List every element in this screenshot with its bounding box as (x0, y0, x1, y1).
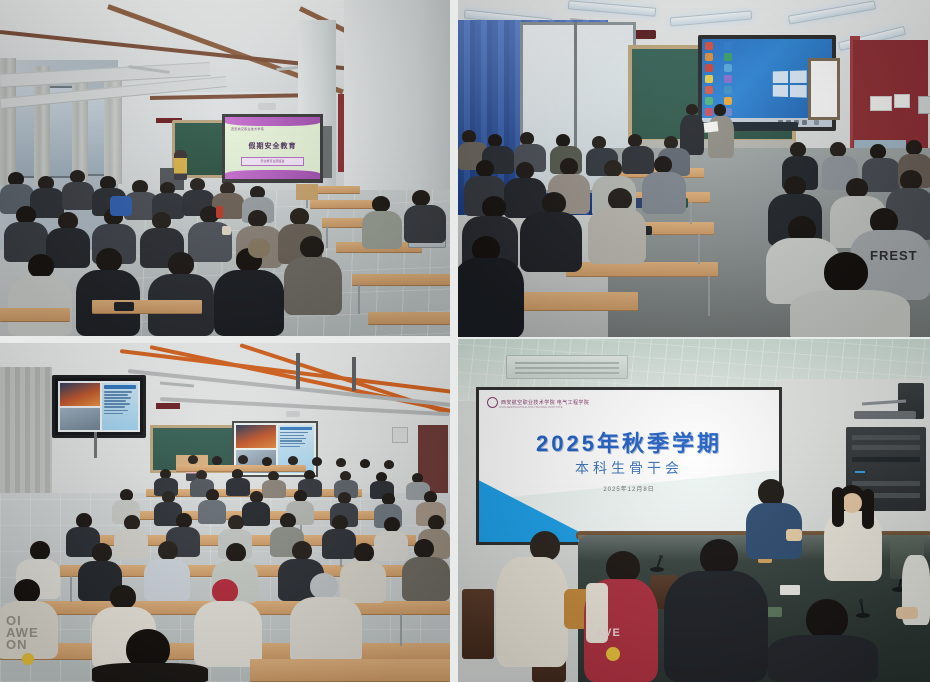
undergraduate-leaders-meeting-scene: 西安航空职业技术学院 电气工程学院 XI'AN AERONAUTICAL POL… (458, 339, 930, 682)
student-head (360, 459, 370, 468)
student-head-foreground (824, 252, 868, 292)
desktop-icon[interactable] (705, 108, 713, 116)
wall-poster-frame (808, 58, 840, 120)
projection-screen: 西安航空职业技术学院 假期安全教育 安全教育主题班会 (222, 114, 323, 183)
desk-leg (400, 614, 402, 646)
ac-vent-line (515, 367, 619, 369)
student-fur-hood (310, 573, 338, 599)
slide-line (280, 435, 304, 436)
collage-panel-top-right: FREST (458, 0, 930, 337)
student-head (542, 192, 566, 214)
presentation-screen: 西安航空职业技术学院 电气工程学院 XI'AN AERONAUTICAL POL… (476, 387, 782, 545)
slide-panel-header (104, 385, 136, 389)
mic-tip (659, 555, 663, 559)
phone (114, 302, 134, 311)
student-head (476, 160, 494, 177)
student-head (76, 513, 92, 528)
student-head (212, 456, 222, 465)
wall-control-panel[interactable] (392, 427, 408, 443)
desk (352, 274, 450, 285)
air-conditioner (506, 355, 628, 379)
slide-line (280, 446, 300, 447)
slide-band-top (225, 117, 320, 126)
student-body (402, 557, 450, 601)
student-body (198, 500, 226, 524)
student-head (92, 543, 112, 562)
slide-line (104, 394, 128, 396)
slide-date: 2025年12月8日 (479, 484, 779, 493)
jacket-print: FREST (870, 248, 926, 262)
student-head (312, 457, 322, 466)
desk (92, 300, 202, 313)
desk-leg (708, 276, 710, 316)
student-body (262, 480, 286, 498)
rack-unit (852, 435, 920, 440)
student-head (428, 515, 444, 530)
participant-body (664, 571, 768, 682)
student-head (412, 190, 430, 206)
student-body (226, 478, 250, 496)
logo-quadrant (773, 71, 788, 83)
desk (368, 312, 450, 324)
desktop-icon[interactable] (724, 42, 732, 50)
student-head (608, 188, 632, 210)
student-head (228, 515, 244, 530)
student-head (384, 460, 394, 469)
notice-paper (894, 94, 910, 108)
student-body (194, 601, 262, 667)
notice-paper (870, 96, 892, 111)
student-head (290, 208, 309, 225)
slide-text-panel (102, 383, 138, 430)
desktop-icon[interactable] (705, 53, 713, 61)
student-head (482, 196, 506, 218)
system-tray-icon[interactable] (814, 120, 819, 125)
student-head (336, 458, 346, 467)
student-head (124, 515, 140, 530)
chair (462, 589, 494, 659)
slide-line (280, 432, 308, 433)
slide-line (104, 400, 126, 402)
participant-body (496, 557, 568, 667)
desktop-icon[interactable] (705, 64, 713, 72)
rack-top-fixture (854, 411, 916, 419)
vest-badge (606, 647, 620, 661)
rack-led (855, 471, 865, 473)
student-head (900, 170, 922, 190)
slide-images (60, 383, 100, 430)
slide-subtitle: 安全教育主题班会 (242, 158, 303, 165)
student-head (516, 162, 534, 179)
desktop-icon[interactable] (724, 86, 732, 94)
student-body (362, 211, 402, 249)
student-body (458, 258, 524, 337)
slide-line (104, 413, 123, 415)
slide-title: 假期安全教育 (225, 141, 320, 151)
slide-photo-fire (236, 425, 276, 448)
projector (286, 411, 300, 417)
jacket-print: OIAWEON (6, 615, 50, 649)
desk (310, 200, 376, 208)
student-head (790, 142, 806, 157)
presenter-head (714, 104, 726, 116)
rack-unit (852, 481, 920, 486)
student-hood (248, 238, 270, 258)
ac-vent-line (515, 362, 619, 364)
student-red-beanie (212, 579, 238, 603)
slide-line (104, 397, 131, 399)
student-body (340, 561, 386, 603)
holiday-safety-lecture-scene: 西安航空职业技术学院 假期安全教育 安全教育主题班会 (0, 0, 450, 336)
student-head (226, 543, 246, 562)
student-body (8, 276, 72, 336)
student-body (520, 212, 582, 272)
desk-leg (70, 576, 72, 602)
collage-panel-top-left: 西安航空职业技术学院 假期安全教育 安全教育主题班会 (0, 0, 450, 336)
student-head (14, 579, 40, 603)
desk (0, 308, 70, 321)
slide-line (280, 438, 306, 439)
rack-unit (852, 457, 920, 462)
jacket-badge (22, 653, 34, 665)
student-head (784, 176, 806, 196)
ac-vent-line (515, 372, 619, 374)
participant-head (700, 539, 738, 575)
logo-quadrant (790, 85, 807, 98)
student-body (622, 146, 654, 174)
participant-hand (786, 529, 802, 541)
slide-subtitle: 本科生骨干会 (479, 458, 779, 478)
windows-desktop-classroom-scene: FREST (458, 0, 930, 337)
student-head (168, 252, 194, 276)
student-head (560, 158, 578, 175)
student-body (144, 559, 190, 601)
slide-line (104, 391, 132, 393)
student-body (322, 529, 356, 559)
student-head (846, 178, 868, 198)
paper-sheet (780, 585, 800, 595)
student-head (152, 212, 171, 229)
desktop-icon[interactable] (724, 64, 732, 72)
participant-hair (862, 489, 874, 529)
mic-tip (859, 599, 863, 603)
water-bottle (216, 206, 223, 218)
desk-leg (358, 284, 360, 314)
student-body (588, 208, 646, 264)
logo-quadrant (790, 70, 807, 83)
participant-face (842, 493, 862, 513)
slide-panel-header (280, 427, 312, 430)
led-display (156, 403, 180, 409)
student-head (354, 543, 374, 562)
pipe-hanger (352, 357, 356, 391)
slide-line (104, 410, 128, 412)
student-body (284, 257, 342, 315)
slide-header-text: 西安航空职业技术学院 (231, 127, 264, 131)
desk (566, 262, 718, 276)
student-head (248, 210, 267, 227)
student-body-foreground (92, 663, 208, 682)
photo-collage: 西安航空职业技术学院 假期安全教育 安全教育主题班会 (0, 0, 930, 682)
mic-base (856, 613, 870, 618)
collage-panel-bottom-right: 西安航空职业技术学院 电气工程学院 XI'AN AERONAUTICAL POL… (458, 339, 930, 682)
vest-print: AVE (596, 627, 640, 643)
student-body (114, 529, 148, 559)
student-head (870, 144, 886, 159)
cup (222, 226, 231, 235)
rack-unit (852, 445, 920, 450)
slide-line (280, 440, 302, 441)
collage-panel-bottom-left: OIAWEON (0, 343, 450, 682)
participant-hair (832, 487, 844, 527)
logo-subtext: XI'AN AERONAUTICAL POLYTECHNIC INSTITUTE (499, 406, 563, 409)
student-head (96, 248, 122, 272)
student-body (374, 531, 408, 561)
student-head (906, 140, 922, 155)
slide-title: 2025年秋季学期 (479, 426, 779, 458)
student-head (110, 585, 136, 609)
participant-body (768, 635, 878, 682)
student-head (604, 160, 622, 177)
student-body (290, 597, 362, 665)
large-lecture-hall-scene: OIAWEON (0, 343, 450, 682)
slide-line (104, 406, 125, 408)
desktop-icon[interactable] (724, 75, 732, 83)
student-head (372, 196, 390, 212)
student-head (292, 541, 312, 560)
desktop-icon[interactable] (705, 97, 713, 105)
pipe-hanger (296, 353, 300, 389)
desk-leg (690, 202, 692, 224)
participant-hand (896, 607, 918, 619)
logo-quadrant (773, 85, 788, 97)
desktop-icon[interactable] (705, 42, 713, 50)
student-head (176, 513, 192, 528)
slide-band-bottom (225, 170, 320, 179)
desktop-icon[interactable] (724, 97, 732, 105)
student-head (414, 539, 434, 558)
tv-stand (94, 432, 97, 458)
wall-tv (52, 375, 146, 438)
wall-switch[interactable] (918, 96, 930, 114)
desk-leg (698, 234, 700, 264)
desktop-icon[interactable] (705, 75, 713, 83)
logo-emblem-icon (487, 397, 498, 408)
presenter (174, 150, 187, 180)
tv-slide (58, 381, 140, 432)
student-head (30, 541, 50, 560)
desktop-icon[interactable] (705, 86, 713, 94)
desktop-icon[interactable] (724, 53, 732, 61)
student-body (214, 270, 284, 336)
stacked-chairs (296, 184, 318, 200)
student-head (332, 515, 348, 530)
student-head (654, 156, 672, 173)
student-head (238, 455, 248, 464)
paper-sheet (704, 121, 719, 132)
backpack (110, 196, 132, 216)
university-logo: 西安航空职业技术学院 电气工程学院 XI'AN AERONAUTICAL POL… (487, 397, 589, 408)
student-body (404, 205, 446, 243)
student-head (288, 456, 298, 465)
desk-leg (326, 226, 328, 248)
student-body (62, 182, 94, 210)
student-head (28, 254, 54, 278)
student-body (242, 502, 270, 526)
student-head (280, 513, 296, 528)
slide-line (280, 443, 305, 444)
participant-head (758, 479, 784, 505)
windows-logo-icon (773, 70, 807, 97)
student-head (300, 236, 324, 258)
desk-foreground (250, 659, 450, 681)
student-head (384, 517, 400, 532)
slide-line (104, 403, 130, 405)
taskbar-icon[interactable] (802, 120, 807, 125)
slide-photo-building (60, 408, 100, 431)
student-head (262, 457, 272, 466)
student-head (188, 455, 198, 464)
participant-head (806, 599, 848, 639)
student-head (830, 142, 846, 157)
student-body-foreground (790, 290, 910, 337)
student-head (158, 541, 178, 560)
projector (258, 103, 276, 110)
slide-subtitle-box: 安全教育主题班会 (241, 157, 304, 166)
student-body (642, 172, 686, 214)
presenter-head (686, 104, 698, 115)
logo-text: 西安航空职业技术学院 电气工程学院 (501, 399, 589, 406)
slide-photo-fire (60, 383, 100, 406)
